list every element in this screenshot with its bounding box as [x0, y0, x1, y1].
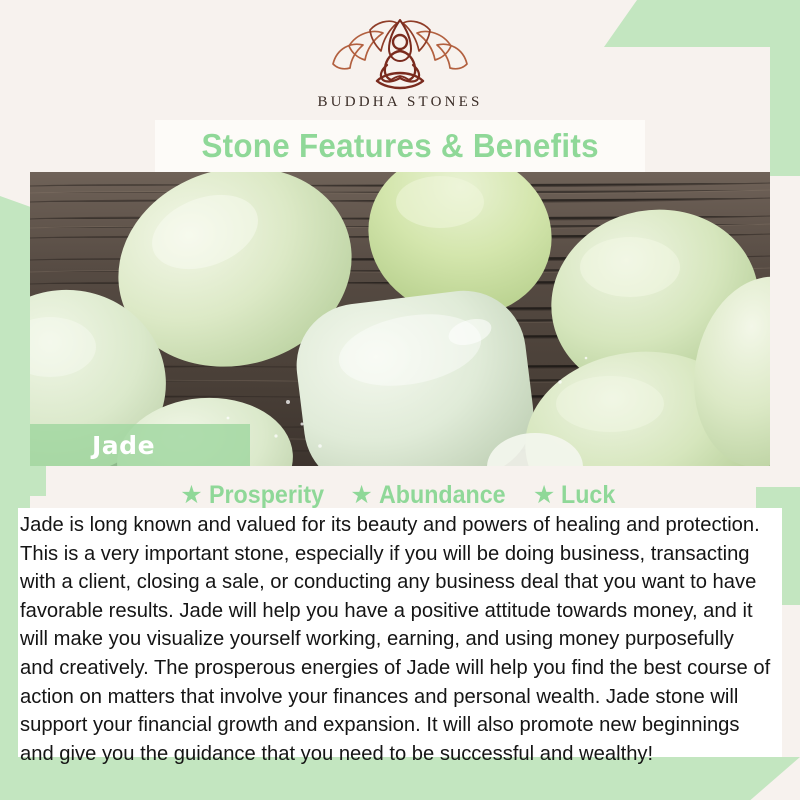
brand-logo: BUDDHA STONES — [0, 18, 800, 111]
benefit-label: Abundance — [379, 481, 506, 510]
title-panel: Stone Features & Benefits — [155, 120, 645, 172]
benefit-label: Luck — [561, 481, 615, 510]
page-title: Stone Features & Benefits — [201, 127, 598, 165]
star-icon: ★ — [533, 483, 555, 508]
brand-wordmark: BUDDHA STONES — [317, 94, 482, 111]
lotus-meditation-icon — [325, 18, 475, 90]
benefit-item: ★ Abundance — [350, 481, 515, 510]
stone-name-bar: Jade — [30, 424, 250, 466]
stone-info-poster: BUDDHA STONES Stone Features & Benefits — [0, 0, 800, 800]
benefit-label: Prosperity — [209, 481, 324, 510]
description-panel: Jade is long known and valued for its be… — [18, 508, 782, 757]
description-text: Jade is long known and valued for its be… — [20, 511, 771, 768]
jade-tumbled-stones-photo — [30, 172, 770, 466]
benefit-item: ★ Prosperity — [180, 481, 332, 510]
stone-name-label: Jade — [92, 431, 155, 460]
benefits-row: ★ Prosperity ★ Abundance ★ Luck — [30, 478, 770, 512]
benefit-item: ★ Luck — [533, 481, 620, 510]
star-icon: ★ — [180, 483, 202, 508]
star-icon: ★ — [350, 483, 372, 508]
